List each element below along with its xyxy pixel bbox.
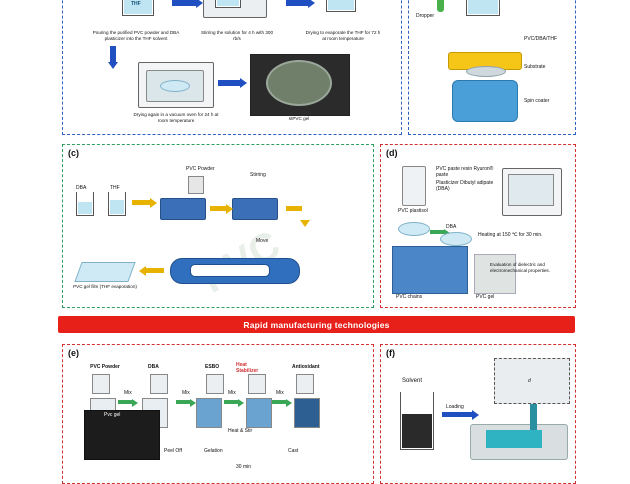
label-c-thf: THF [110, 185, 120, 191]
d-gel-photo [474, 254, 516, 294]
arrow-c2 [210, 206, 226, 211]
caption-a2: Stirring the solution for 4 h with 300 r… [198, 30, 276, 41]
spin-coater-body [452, 80, 518, 122]
arrowhead-a4 [240, 78, 247, 88]
arrow-c1 [132, 200, 150, 205]
e-jar-4 [246, 398, 272, 428]
oven-dish [160, 80, 190, 92]
liquid-stirring [217, 0, 239, 6]
label-e-gelation: Gelation [204, 448, 223, 454]
caption-a3: Drying to evaporate the THF for 72 h at … [304, 30, 382, 41]
liquid-c-dba [78, 202, 92, 214]
dropper-icon [437, 0, 444, 12]
label-c-pvc-powder: PVC Powder [186, 166, 215, 172]
arrow-d1 [430, 230, 444, 234]
label-d-evaluation: Evaluation of dielectric and electromech… [490, 262, 570, 273]
beaker-c-dba [76, 192, 94, 216]
e-vial-1 [92, 374, 110, 394]
label-e-peel-off: Peel Off [164, 448, 182, 454]
liquid-solution [328, 0, 354, 10]
arrowhead-e4 [286, 399, 292, 407]
label-d-paste-resin: PVC paste resin Ryuron® paste [436, 166, 496, 178]
label-c-dba: DBA [76, 185, 86, 191]
label-f-d: d [528, 378, 531, 384]
label-f-solvent: Solvent [402, 378, 422, 385]
f-liquid [402, 414, 432, 448]
panel-f-label: (f) [386, 348, 395, 358]
d-oven-window [508, 174, 554, 206]
arrowhead-c4 [139, 266, 146, 276]
label-e-dba: DBA [148, 364, 159, 370]
arrow-e3 [224, 400, 238, 404]
pvc-gel-film [74, 262, 135, 282]
label-d-pvc-gel: PVC gel [476, 294, 494, 300]
liquid-c-thf [110, 200, 124, 214]
label-e-cast: Cast [288, 448, 298, 454]
label-c-move: Move [256, 238, 268, 244]
label-stpvc-gel: stPVC gel [266, 116, 332, 122]
e-vial-4 [248, 374, 266, 394]
label-e-antioxidant: Antioxidant [292, 364, 320, 370]
label-e-30min: 30 min [236, 464, 251, 470]
label-f-loading: Loading [446, 404, 464, 410]
d-micrograph [392, 246, 468, 294]
e-gel-photo [84, 410, 160, 460]
e-vial-5 [296, 374, 314, 394]
arrowhead-e3 [238, 399, 244, 407]
panel-e-label: (e) [68, 348, 79, 358]
label-d-pvc-chains: PVC chains [396, 294, 422, 300]
label-e-mix-3: Mix [228, 390, 236, 396]
label-d-plasticizer: Plasticizer Dibutyl adipate (DBA) [436, 180, 498, 192]
arrow-a3 [110, 46, 116, 62]
arrow-e1 [118, 400, 132, 404]
label-d-dba: DBA [446, 224, 456, 230]
arrow-a2 [286, 0, 308, 6]
e-vial-3 [206, 374, 224, 394]
label-spin-coater: Spin coater [524, 98, 549, 104]
arrowhead-f1 [472, 410, 479, 420]
beaker-solution [326, 0, 356, 12]
arrow-c4 [146, 268, 164, 273]
d-dish-right [440, 232, 472, 246]
liquid-b [468, 0, 498, 14]
label-dropper: Dropper [416, 13, 434, 19]
label-e-pvc-powder: PVC Powder [88, 364, 122, 370]
stirrer-display: 300 rb/m [243, 0, 257, 1]
label-e-heat-stabilizer: Heat Stabilizer [236, 362, 270, 374]
arrowhead-c2 [226, 204, 233, 214]
caption-a1: Pouring the purified PVC powder and DBA … [88, 30, 184, 41]
e-jar-5 [294, 398, 320, 428]
label-substrate: Substrate [524, 64, 545, 70]
label-e-heat-stir: Heat & Stir [228, 428, 252, 434]
label-e-mix-2: Mix [182, 390, 190, 396]
f-inset-box [494, 358, 570, 404]
beaker-stirring [215, 0, 241, 8]
label-d-plastisol: PVC plastisol [398, 208, 428, 214]
panel-d-label: (d) [386, 148, 398, 158]
arrowhead-c3 [300, 220, 310, 227]
arrow-f1 [442, 412, 472, 417]
label-e-mix-4: Mix [276, 390, 284, 396]
d-dish-left [398, 222, 430, 236]
pvc-powder-container [188, 176, 204, 194]
arrow-c3 [286, 206, 302, 211]
e-jar-3 [196, 398, 222, 428]
e-vial-2 [150, 374, 168, 394]
d-bottle [402, 166, 426, 206]
arrowhead-a1 [196, 0, 203, 8]
label-e-pvc-gel: Pvc gel [104, 412, 120, 418]
label-thf: THF [131, 1, 141, 7]
banner-text: Rapid manufacturing technologies [243, 320, 389, 330]
beaker-c-thf [108, 192, 126, 216]
arrow-e4 [272, 400, 286, 404]
f-graduated-cylinder [400, 392, 434, 450]
substrate-disc [466, 66, 506, 77]
beaker-b [466, 0, 500, 16]
label-pvc-dba-thf: PVC/DBA/THF [524, 36, 557, 42]
f-printed-film [486, 430, 542, 448]
panel-c-label: (c) [68, 148, 79, 158]
label-e-esbo: ESBO [205, 364, 219, 370]
arrowhead-c1 [150, 198, 157, 208]
arrowhead-e1 [132, 399, 138, 407]
arrow-a4 [218, 80, 240, 86]
label-c-stirring: Stirring [250, 172, 266, 178]
arrowhead-a3 [108, 62, 118, 69]
arrowhead-a2 [308, 0, 315, 8]
label-e-mix-1: Mix [124, 390, 132, 396]
arrow-e2 [176, 400, 190, 404]
label-c-film: PVC gel film (THF evaporation) [70, 284, 140, 290]
caption-a4: Drying again in a vacuum oven for 24 h a… [130, 112, 222, 123]
rapid-manufacturing-banner: Rapid manufacturing technologies [58, 316, 575, 333]
gel-dish [266, 60, 332, 106]
label-d-heating: Heating at 150 ℃ for 30 min. [478, 232, 544, 238]
c-hotplate-1 [160, 198, 206, 220]
c-hotplate-2 [232, 198, 278, 220]
arrow-a1 [172, 0, 196, 6]
casting-machine-window [190, 264, 270, 277]
